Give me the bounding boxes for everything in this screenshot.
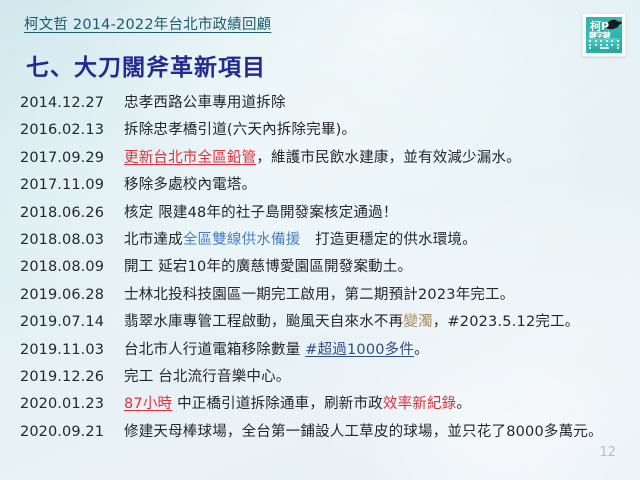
achievement-date: 2017.11.09 — [20, 177, 124, 193]
achievement-text: 士林北投科技園區一期完工啟用，第二期預計2023年完工。 — [124, 283, 634, 304]
achievement-row: 2018.06.26核定 限建48年的社子島開發案核定通過！ — [20, 201, 634, 228]
keyboard-row — [589, 40, 619, 42]
achievement-date: 2019.06.28 — [20, 287, 124, 303]
achievement-text: 完工 台北流行音樂中心。 — [124, 365, 634, 386]
achievement-text-segment: ，#2023.5.12完工。 — [433, 314, 580, 330]
achievement-text: 北市達成全區雙線供水備援 打造更穩定的供水環境。 — [124, 228, 634, 249]
achievement-row: 2020.01.2387小時 中正橋引道拆除通車，刷新市政效率新紀錄。 — [20, 392, 634, 419]
achievement-text: 核定 限建48年的社子島開發案核定通過！ — [124, 201, 634, 222]
brand-logo: 柯P 鍵字鍵 — [582, 13, 626, 57]
achievement-row: 2018.08.03北市達成全區雙線供水備援 打造更穩定的供水環境。 — [20, 228, 634, 255]
achievement-text-highlight: 更新台北市全區鉛管 — [124, 150, 256, 166]
section-heading: 七、大刀闊斧革新項目 — [26, 48, 266, 82]
slide-header: 柯文哲 2014-2022年台北市政績回顧 — [24, 13, 271, 34]
achievement-text-segment: 。 — [456, 396, 471, 412]
achievement-row: 2017.09.29更新台北市全區鉛管，維護市民飲水建康，並有效減少漏水。 — [20, 146, 634, 173]
achievement-text: 開工 延宕10年的廣慈博愛園區開發案動土。 — [124, 255, 634, 276]
logo-inner: 柯P 鍵字鍵 — [586, 17, 622, 53]
achievement-date: 2018.08.09 — [20, 259, 124, 275]
achievement-text-highlight: 87小時 — [124, 396, 172, 412]
keyboard-row — [589, 47, 619, 49]
achievement-row: 2018.08.09開工 延宕10年的廣慈博愛園區開發案動土。 — [20, 255, 634, 282]
achievement-text-segment: 北市達成 — [124, 232, 183, 248]
achievement-date: 2016.02.13 — [20, 122, 124, 138]
achievement-row: 2017.11.09移除多處校內電塔。 — [20, 173, 634, 200]
achievement-text-segment: 完工 台北流行音樂中心。 — [124, 369, 291, 385]
achievement-date: 2014.12.27 — [20, 95, 124, 111]
achievement-text: 移除多處校內電塔。 — [124, 173, 634, 194]
achievement-text-segment: 。 — [414, 342, 429, 358]
achievement-date: 2019.12.26 — [20, 369, 124, 385]
achievement-text-segment: 移除多處校內電塔。 — [124, 177, 256, 193]
achievement-text-highlight: #超過1000多件 — [305, 342, 414, 358]
achievement-text: 台北市人行道電箱移除數量 #超過1000多件。 — [124, 338, 634, 359]
achievement-row: 2019.12.26完工 台北流行音樂中心。 — [20, 365, 634, 392]
achievement-text-segment: 中正橋引道拆除通車，刷新市政 — [172, 396, 383, 412]
achievement-date: 2019.07.14 — [20, 314, 124, 330]
achievement-list: 2014.12.27忠孝西路公車專用道拆除2016.02.13拆除忠孝橋引道(六… — [20, 91, 634, 447]
achievement-text-segment: 士林北投科技園區一期完工啟用，第二期預計2023年完工。 — [124, 287, 515, 303]
achievement-text-segment: 台北市人行道電箱移除數量 — [124, 342, 305, 358]
achievement-text-segment: ，維護市民飲水建康，並有效減少漏水。 — [256, 150, 521, 166]
achievement-text: 87小時 中正橋引道拆除通車，刷新市政效率新紀錄。 — [124, 392, 634, 413]
achievement-text: 更新台北市全區鉛管，維護市民飲水建康，並有效減少漏水。 — [124, 146, 634, 167]
achievement-text-segment: 核定 限建48年的社子島開發案核定通過！ — [124, 205, 398, 221]
achievement-date: 2017.09.29 — [20, 150, 124, 166]
achievement-date: 2020.01.23 — [20, 396, 124, 412]
page-number: 12 — [599, 445, 616, 460]
achievement-text: 翡翠水庫專管工程啟動，颱風天自來水不再變濁，#2023.5.12完工。 — [124, 310, 634, 331]
achievement-text: 拆除忠孝橋引道(六天內拆除完畢)。 — [124, 118, 634, 139]
slide-canvas: 柯文哲 2014-2022年台北市政績回顧 柯P 鍵字鍵 — [0, 0, 640, 480]
achievement-text-segment: 拆除忠孝橋引道(六天內拆除完畢)。 — [124, 122, 356, 138]
achievement-date: 2020.09.21 — [20, 424, 124, 440]
achievement-text: 修建天母棒球場，全台第一鋪設人工草皮的球場，並只花了8000多萬元。 — [124, 420, 634, 441]
achievement-text-segment: 開工 延宕10年的廣慈博愛園區開發案動土。 — [124, 259, 412, 275]
achievement-date: 2018.06.26 — [20, 205, 124, 221]
achievement-row: 2019.06.28士林北投科技園區一期完工啟用，第二期預計2023年完工。 — [20, 283, 634, 310]
achievement-text-highlight: 效率新紀錄 — [383, 396, 457, 412]
achievement-text: 忠孝西路公車專用道拆除 — [124, 91, 634, 112]
achievement-date: 2018.08.03 — [20, 232, 124, 248]
achievement-text-segment: 忠孝西路公車專用道拆除 — [124, 95, 286, 111]
achievement-row: 2019.07.14翡翠水庫專管工程啟動，颱風天自來水不再變濁，#2023.5.… — [20, 310, 634, 337]
achievement-row: 2014.12.27忠孝西路公車專用道拆除 — [20, 91, 634, 118]
achievement-row: 2019.11.03台北市人行道電箱移除數量 #超過1000多件。 — [20, 338, 634, 365]
achievement-text-segment: 打造更穩定的供水環境。 — [300, 232, 476, 248]
presentation-title: 柯文哲 2014-2022年台北市政績回顧 — [24, 13, 271, 34]
achievement-date: 2019.11.03 — [20, 342, 124, 358]
achievement-row: 2020.09.21修建天母棒球場，全台第一鋪設人工草皮的球場，並只花了8000… — [20, 420, 634, 447]
achievement-row: 2016.02.13拆除忠孝橋引道(六天內拆除完畢)。 — [20, 118, 634, 145]
achievement-text-segment: 翡翠水庫專管工程啟動，颱風天自來水不再 — [124, 314, 403, 330]
keyboard-icon — [588, 38, 620, 51]
achievement-text-segment: 修建天母棒球場，全台第一鋪設人工草皮的球場，並只花了8000多萬元。 — [124, 424, 603, 440]
achievement-text-highlight: 變濁 — [403, 314, 432, 330]
keyboard-row — [589, 44, 619, 46]
achievement-text-highlight: 全區雙線供水備援 — [183, 232, 301, 248]
